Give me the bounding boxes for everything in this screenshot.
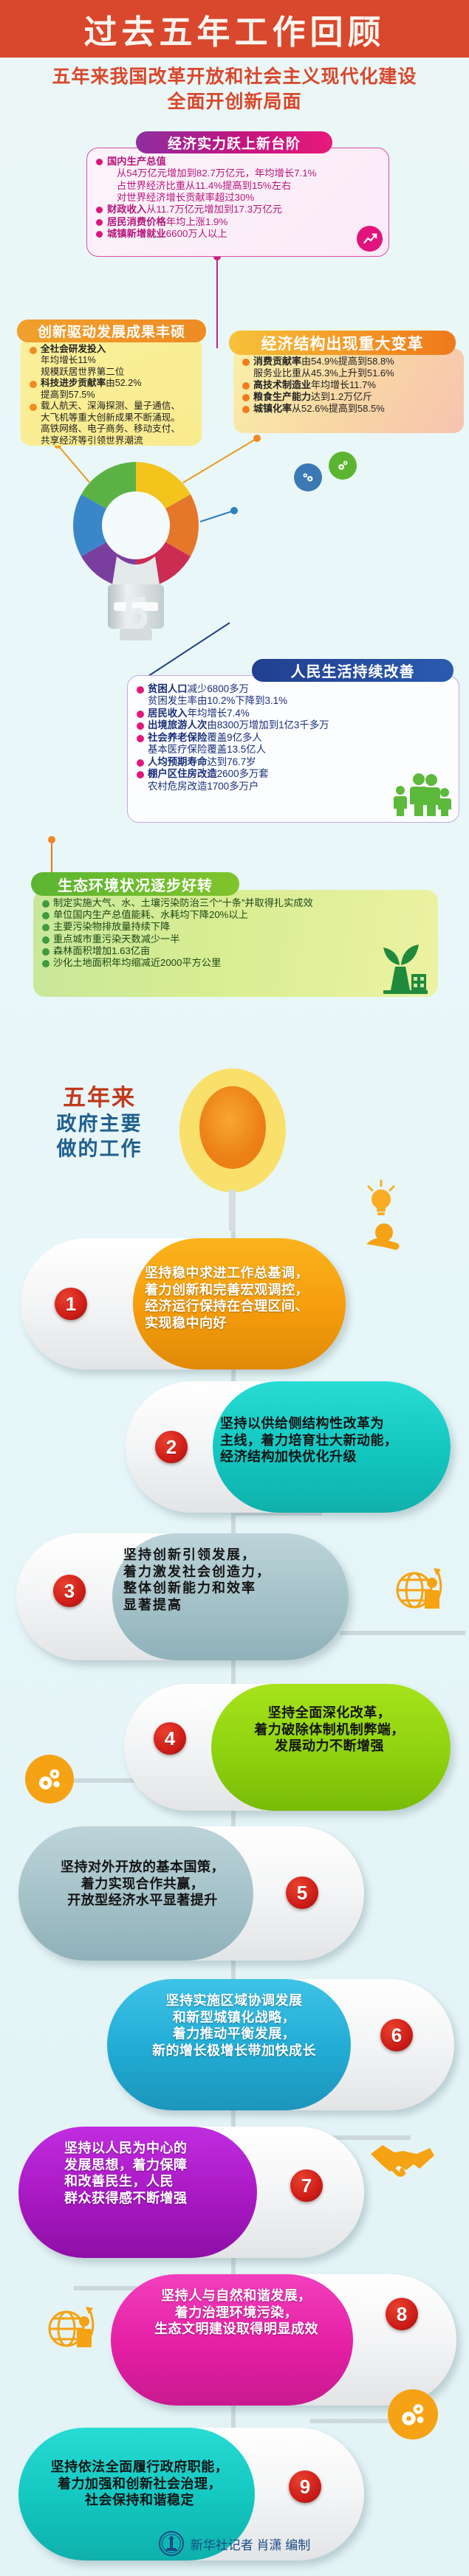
item-line: 6600万人以上	[166, 228, 227, 239]
list-item: 出境旅游人次由8300万增加到1亿3千多万	[137, 719, 450, 731]
svg-text:5: 5	[123, 588, 148, 639]
list-item: 粮食生产能力达到1.2万亿斤	[242, 391, 455, 403]
list-item: 载人航天、深海探测、量子通信、	[30, 401, 193, 412]
list-item: 城镇化率从52.6%提高到58.5%	[242, 403, 455, 415]
section-card-innovation: 全社会研发投入 年均增长11% 规模跃居世界第二位 科技进步贡献率由52.2% …	[21, 336, 202, 446]
page-subtitle: 五年来我国改革开放和社会主义现代化建设 全面开创新局面	[0, 65, 469, 115]
work-item-7[interactable]: 7 坚持以人民为中心的 发展思想，着力保障 和改善民生，人民 群众获得感不断增强	[18, 2127, 364, 2258]
item-lead: 国内生产总值	[107, 156, 166, 167]
work-item-4-text: 坚持全面深化改革， 着力破除体制机制弊端， 发展动力不断增强	[219, 1705, 440, 1755]
part2-title-line-3: 做的工作	[31, 1137, 168, 1162]
item-line: 农村危房改造1700多万户	[148, 781, 259, 792]
subtitle-line-2: 全面开创新局面	[0, 90, 469, 115]
section-card-economy: 国内生产总值 从54万亿元增加到82.7万亿元，年均增长7.1% 占世界经济比重…	[86, 148, 389, 257]
leaf-factory-icon	[370, 940, 429, 995]
work-line: 坚持以供给侧结构性改革为	[220, 1415, 398, 1432]
work-line: 生态文明建设取得明显成效	[126, 2321, 347, 2338]
list-item: 全社会研发投入	[30, 344, 193, 355]
item-lead: 贫困人口	[148, 683, 188, 694]
list-item: 规模跃居世界第二位	[30, 367, 193, 378]
connector-reform	[196, 505, 247, 528]
work-item-5-number: 5	[286, 1876, 318, 1909]
item-lead: 城镇化率	[253, 403, 292, 414]
item-line: 森林面积增加1.63亿亩	[53, 945, 150, 956]
item-line: 年均上涨1.9%	[166, 216, 228, 227]
bullet-dot	[42, 948, 49, 956]
item-line: 制定实施大气、水、土壤污染防治三个“十条”并取得扎实成效	[53, 897, 313, 908]
item-line: 提高到57.5%	[41, 390, 95, 400]
item-line: 单位国内生产总值能耗、水耗均下降20%以上	[53, 909, 248, 920]
bullet-dot	[96, 219, 103, 226]
bullet-dot	[30, 347, 37, 354]
section-heading-economy: 经济实力跃上新台阶	[136, 131, 332, 153]
item-line: 载人航天、深海探测、量子通信、	[41, 401, 180, 411]
work-line: 坚持对外开放的基本国策，	[32, 1859, 253, 1876]
work-item-6[interactable]: 6 坚持实施区域协调发展 和新型城镇化战略， 着力推动平衡发展， 新的增长极增长…	[107, 1979, 454, 2110]
work-line: 群众获得感不断增强	[64, 2190, 188, 2207]
work-line: 着力推动平衡发展，	[123, 2026, 345, 2043]
work-line: 着力激发社会创造力，	[123, 1564, 271, 1581]
work-item-6-number: 6	[380, 2019, 413, 2051]
work-line: 坚持全面深化改革，	[219, 1705, 440, 1722]
item-line: 重点城市重污染天数减少一半	[53, 933, 179, 945]
bullet-dot	[42, 924, 49, 931]
list-item: 大飞机等重大创新成果不断涌现。	[30, 412, 193, 424]
gears-icon	[388, 2389, 438, 2439]
bulb-icon	[363, 1179, 399, 1220]
list-item: 提高到57.5%	[30, 390, 193, 401]
work-item-3-number: 3	[53, 1575, 86, 1607]
list-item: 主要污染物排放量持续下降	[42, 921, 429, 933]
list-item: 贫困发生率由10.2%下降到3.1%	[137, 695, 450, 707]
item-line: 服务业比重从45.3%上升到51.6%	[253, 367, 394, 379]
gears-icon	[294, 463, 322, 491]
bullet-dot	[96, 159, 103, 165]
work-item-9-number: 9	[289, 2470, 321, 2503]
bullet-dot	[30, 381, 37, 388]
item-line: 沙化土地面积年均缩减近2000平方公里	[53, 957, 221, 968]
section-card-ecology: 制定实施大气、水、土壤污染防治三个“十条”并取得扎实成效 单位国内生产总值能耗、…	[33, 890, 438, 997]
work-line: 新的增长极增长带加快成长	[123, 2043, 345, 2059]
work-item-7-number: 7	[290, 2169, 323, 2202]
part2-title-line-2: 政府主要	[31, 1112, 168, 1137]
list-item: 占世界经济比重从11.4%提高到15%左右	[96, 180, 380, 192]
item-line: 由52.2%	[106, 378, 141, 388]
bullet-dot	[242, 382, 250, 390]
work-line: 发展动力不断增强	[219, 1738, 440, 1755]
bullet-dot	[242, 394, 250, 401]
work-item-8[interactable]: 8 坚持人与自然和谐发展， 着力治理环境污染， 生态文明建设取得明显成效	[111, 2274, 456, 2406]
bullet-dot	[96, 231, 103, 238]
xinhua-logo	[159, 2531, 184, 2556]
work-line: 实现稳中向好	[145, 1315, 309, 1332]
item-line: 共享经济等引领世界潮流	[41, 435, 143, 446]
item-line: 年均增长11%	[41, 355, 96, 365]
work-item-4[interactable]: 4 坚持全面深化改革， 着力破除体制机制弊端， 发展动力不断增强	[124, 1684, 451, 1811]
globe-person-icon	[395, 1559, 447, 1620]
hand-bulb-icon	[362, 1219, 408, 1265]
part2-title: 五年来 政府主要 做的工作	[31, 1079, 168, 1162]
list-item: 居民收入年均增长7.4%	[137, 708, 450, 719]
item-line: 从52.6%提高到58.5%	[292, 403, 385, 414]
subtitle-line-1: 五年来我国改革开放和社会主义现代化建设	[0, 65, 469, 90]
work-item-2-number: 2	[155, 1431, 188, 1463]
list-item: 人均预期寿命达到76.7岁	[137, 756, 450, 768]
item-lead: 人均预期寿命	[148, 756, 207, 767]
work-line: 坚持人与自然和谐发展，	[126, 2287, 347, 2304]
bullet-dot	[137, 759, 144, 767]
item-line: 由8300万增加到1亿3千多万	[207, 719, 329, 731]
work-line: 社会保持和谐稳定	[29, 2492, 250, 2509]
bullet-dot	[30, 404, 37, 411]
item-line: 达到76.7岁	[207, 756, 256, 767]
work-item-1[interactable]: 1 坚持稳中求进工作总基调， 着力创新和完善宏观调控， 经济运行保持在合理区间、…	[21, 1238, 346, 1370]
section-heading-life: 人民生活持续改善	[252, 659, 453, 682]
work-item-3[interactable]: 3 坚持创新引领发展， 着力激发社会创造力， 整体创新能力和效率 显著提高	[16, 1533, 349, 1660]
item-lead: 出境旅游人次	[148, 719, 207, 731]
handshake-icon	[368, 2135, 436, 2192]
list-item: 高技术制造业年均增长11.7%	[242, 379, 455, 391]
list-item: 贫困人口减少6800多万	[137, 683, 450, 695]
list-item: 基本医疗保险覆盖13.5亿人	[137, 744, 450, 756]
gears-icon	[25, 1755, 74, 1803]
item-lead: 科技进步贡献率	[41, 378, 106, 388]
bullet-dot	[96, 207, 103, 213]
list-item: 共享经济等引领世界潮流	[30, 435, 193, 446]
bullet-dot	[137, 735, 144, 742]
work-line: 整体创新能力和效率	[123, 1580, 271, 1597]
section-heading-structure: 经济结构出现重大变革	[229, 331, 456, 355]
section-card-structure: 消费贡献率由54.9%提高到58.8% 服务业比重从45.3%上升到51.6% …	[233, 348, 464, 433]
list-item: 城镇新增就业6600万人以上	[96, 228, 380, 240]
work-line: 和改善民生，人民	[64, 2173, 188, 2190]
sun-graphic	[175, 1063, 301, 1232]
chart-up-icon	[357, 226, 383, 252]
work-item-8-text: 坚持人与自然和谐发展， 着力治理环境污染， 生态文明建设取得明显成效	[126, 2287, 347, 2338]
bullet-dot	[137, 722, 144, 730]
item-lead: 棚户区住房改造	[148, 768, 217, 779]
work-line: 坚持创新引领发展，	[123, 1547, 271, 1564]
list-item: 年均增长11%	[30, 355, 193, 366]
connector-branch	[340, 1631, 465, 1635]
item-line: 年均增长7.4%	[188, 708, 250, 719]
item-lead: 社会养老保险	[148, 732, 207, 743]
bullet-dot	[42, 960, 49, 967]
item-line: 大飞机等重大创新成果不断涌现。	[41, 412, 180, 423]
infographic-page: 过去五年工作回顾 五年来我国改革开放和社会主义现代化建设 全面开创新局面 经济实…	[0, 0, 469, 2576]
work-line: 坚持实施区域协调发展	[123, 1992, 345, 2009]
work-line: 开放型经济水平显著提升	[32, 1892, 253, 1909]
work-line: 发展思想，着力保障	[64, 2157, 188, 2174]
item-line: 从54万亿元增加到82.7万亿元，年均增长7.1%	[117, 168, 316, 179]
item-lead: 消费贡献率	[253, 356, 301, 367]
item-line: 占世界经济比重从11.4%提高到15%左右	[117, 180, 291, 191]
bullet-dot	[137, 686, 144, 694]
bullet-dot	[137, 771, 144, 778]
family-icon	[391, 772, 451, 816]
work-line: 和新型城镇化战略，	[123, 2009, 345, 2026]
work-line: 坚持以人民为中心的	[64, 2140, 188, 2157]
footer-credit: 新华社记者 肖潇 编制	[191, 2535, 310, 2553]
item-line: 减少6800多万	[188, 683, 249, 694]
work-line: 着力治理环境污染，	[126, 2304, 347, 2321]
work-item-9-text: 坚持依法全面履行政府职能， 着力加强和创新社会治理， 社会保持和谐稳定	[29, 2459, 250, 2509]
bullet-dot	[137, 711, 144, 718]
item-line: 从11.7万亿元增加到17.3万亿元	[146, 204, 282, 215]
item-line: 由54.9%提高到58.8%	[301, 356, 394, 367]
list-item: 高铁网络、电子商务、移动支付、	[30, 424, 193, 435]
list-item: 社会养老保险覆盖9亿多人	[137, 732, 450, 744]
item-line: 高铁网络、电子商务、移动支付、	[41, 424, 180, 434]
item-line: 基本医疗保险覆盖13.5亿人	[148, 744, 266, 755]
work-line: 经济结构加快优化升级	[220, 1448, 398, 1465]
work-line: 着力实现合作共赢，	[32, 1876, 253, 1893]
work-item-2[interactable]: 2 坚持以供给侧结构性改革为 主线，着力培育壮大新动能， 经济结构加快优化升级	[126, 1381, 451, 1513]
list-item: 财政收入从11.7万亿元增加到17.3万亿元	[96, 204, 380, 215]
work-item-1-number: 1	[55, 1288, 87, 1320]
section-heading-ecology: 生态环境状况逐步好转	[31, 872, 239, 896]
work-item-8-number: 8	[386, 2298, 418, 2330]
item-line: 对世界经济增长贡献率超过30%	[117, 192, 254, 203]
footer: 新华社记者 肖潇 编制	[0, 2525, 469, 2562]
item-lead: 居民消费价格	[107, 216, 166, 227]
bullet-dot	[42, 900, 49, 908]
section-card-life: 贫困人口减少6800多万 贫困发生率由10.2%下降到3.1% 居民收入年均增长…	[127, 675, 459, 823]
page-title: 过去五年工作回顾	[83, 5, 385, 53]
list-item: 单位国内生产总值能耗、水耗均下降20%以上	[42, 909, 429, 921]
work-line: 经济运行保持在合理区间、	[145, 1298, 309, 1315]
list-item: 服务业比重从45.3%上升到51.6%	[242, 367, 455, 379]
item-line: 主要污染物排放量持续下降	[53, 921, 170, 932]
item-lead: 粮食生产能力	[253, 391, 311, 402]
item-lead: 居民收入	[148, 708, 188, 719]
work-line: 主线，着力培育壮大新动能，	[220, 1432, 398, 1449]
work-line: 着力破除体制机制弊端，	[219, 1722, 440, 1738]
item-line: 达到1.2万亿斤	[311, 391, 372, 402]
top-banner: 过去五年工作回顾	[0, 0, 469, 58]
list-item: 科技进步贡献率由52.2%	[30, 378, 193, 389]
globe-person-icon	[47, 2296, 100, 2355]
item-line: 贫困发生率由10.2%下降到3.1%	[148, 695, 287, 706]
work-line: 显著提高	[123, 1597, 271, 1614]
item-line: 规模跃居世界第二位	[41, 367, 124, 377]
item-line: 年均增长11.7%	[311, 379, 376, 390]
item-line: 2600多万套	[217, 768, 269, 779]
work-line: 着力加强和创新社会治理，	[29, 2476, 250, 2493]
list-item: 国内生产总值	[96, 156, 380, 168]
work-line: 坚持依法全面履行政府职能，	[29, 2459, 250, 2476]
section-heading-innovation: 创新驱动发展成果丰硕	[17, 320, 206, 342]
bullet-dot	[42, 936, 49, 944]
work-item-3-text: 坚持创新引领发展， 着力激发社会创造力， 整体创新能力和效率 显著提高	[123, 1547, 271, 1614]
item-lead: 全社会研发投入	[41, 344, 106, 354]
part2-title-line-1: 五年来	[31, 1079, 168, 1112]
gears-icon	[329, 452, 357, 480]
work-line: 着力创新和完善宏观调控，	[145, 1282, 309, 1299]
list-item: 制定实施大气、水、土壤污染防治三个“十条”并取得扎实成效	[42, 897, 429, 909]
work-item-5[interactable]: 5 坚持对外开放的基本国策， 着力实现合作共赢， 开放型经济水平显著提升	[18, 1826, 364, 1961]
item-lead: 城镇新增就业	[107, 228, 166, 239]
bullet-dot	[242, 359, 250, 366]
lightbulb-graphic: 5	[71, 455, 201, 698]
list-item: 对世界经济增长贡献率超过30%	[96, 192, 380, 204]
work-item-6-text: 坚持实施区域协调发展 和新型城镇化战略， 着力推动平衡发展， 新的增长极增长带加…	[123, 1992, 345, 2059]
item-lead: 高技术制造业	[253, 379, 311, 390]
work-item-2-text: 坚持以供给侧结构性改革为 主线，着力培育壮大新动能， 经济结构加快优化升级	[220, 1415, 398, 1465]
item-lead: 财政收入	[107, 204, 146, 215]
work-item-5-text: 坚持对外开放的基本国策， 着力实现合作共赢， 开放型经济水平显著提升	[32, 1859, 253, 1909]
bullet-dot	[242, 406, 250, 413]
list-item: 居民消费价格年均上涨1.9%	[96, 216, 380, 228]
work-line: 坚持稳中求进工作总基调，	[145, 1265, 309, 1282]
bullet-dot	[42, 912, 49, 919]
work-item-7-text: 坚持以人民为中心的 发展思想，着力保障 和改善民生，人民 群众获得感不断增强	[64, 2140, 188, 2207]
list-item: 消费贡献率由54.9%提高到58.8%	[242, 356, 455, 367]
list-item: 从54万亿元增加到82.7万亿元，年均增长7.1%	[96, 168, 380, 179]
work-item-4-number: 4	[154, 1722, 186, 1755]
item-line: 覆盖9亿多人	[207, 732, 261, 743]
work-item-1-text: 坚持稳中求进工作总基调， 着力创新和完善宏观调控， 经济运行保持在合理区间、 实…	[145, 1265, 309, 1332]
